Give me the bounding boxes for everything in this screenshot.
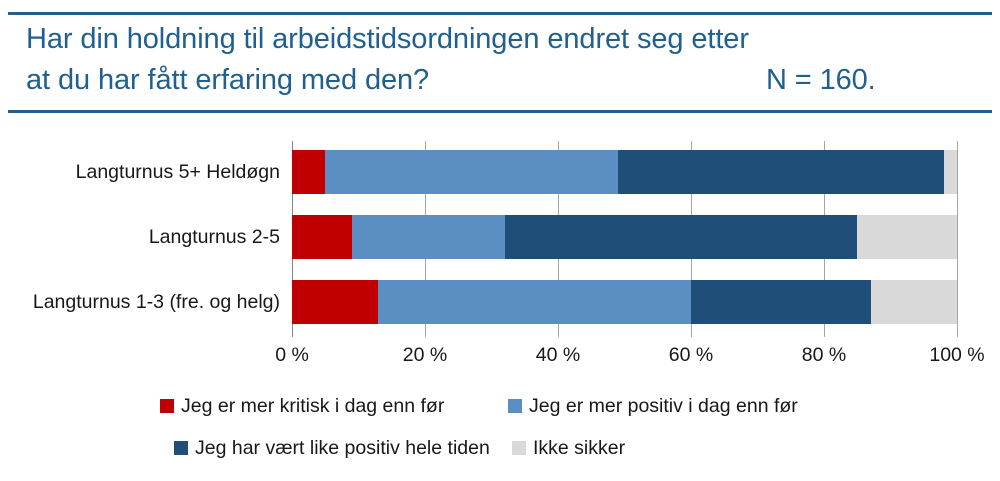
x-tick-label-100: 100 % <box>912 344 1000 367</box>
title-line-2-text: at du har fått erfaring med den? <box>26 64 429 96</box>
bar-segment <box>352 215 505 259</box>
bar-segment <box>292 280 378 324</box>
chart-figure: Har din holdning til arbeidstidsordninge… <box>0 0 1000 481</box>
x-tick-label-60: 60 % <box>646 344 736 367</box>
x-tick-label-80: 80 % <box>779 344 869 367</box>
title-top-rule <box>8 12 992 15</box>
legend-swatch-icon <box>508 399 522 413</box>
legend-label: Jeg er mer positiv i dag enn før <box>529 396 798 416</box>
chart-legend: Jeg er mer kritisk i dag enn førJeg er m… <box>160 396 860 472</box>
bar-segment <box>944 150 957 194</box>
legend-label: Jeg har vært like positiv hele tiden <box>195 438 490 458</box>
legend-item[interactable]: Ikke sikker <box>512 438 625 458</box>
legend-label: Ikke sikker <box>533 438 625 458</box>
legend-label: Jeg er mer kritisk i dag enn før <box>181 396 444 416</box>
page-title: Har din holdning til arbeidstidsordninge… <box>26 19 976 107</box>
sample-size-label: N = 160. <box>766 60 876 101</box>
bar-segment <box>871 280 957 324</box>
legend-item[interactable]: Jeg er mer positiv i dag enn før <box>508 396 798 416</box>
bar-segment <box>505 215 857 259</box>
bar-row <box>292 150 957 194</box>
legend-item[interactable]: Jeg har vært like positiv hele tiden <box>174 438 490 458</box>
title-line-1: Har din holdning til arbeidstidsordninge… <box>26 19 976 60</box>
bar-segment <box>292 150 325 194</box>
bar-segment <box>325 150 618 194</box>
bar-row <box>292 215 957 259</box>
legend-item[interactable]: Jeg er mer kritisk i dag enn før <box>160 396 444 416</box>
title-line-2: at du har fått erfaring med den? N = 160… <box>26 60 976 101</box>
bar-segment <box>691 280 871 324</box>
bar-segment <box>292 215 352 259</box>
title-bottom-rule <box>8 110 992 113</box>
bar-segment <box>618 150 944 194</box>
x-tick-label-20: 20 % <box>380 344 470 367</box>
category-label-1: Langturnus 2-5 <box>0 226 280 249</box>
legend-swatch-icon <box>512 441 526 455</box>
category-label-2: Langturnus 1-3 (fre. og helg) <box>0 291 280 314</box>
gridline-100 <box>957 141 958 337</box>
legend-swatch-icon <box>174 441 188 455</box>
bar-segment <box>378 280 691 324</box>
legend-swatch-icon <box>160 399 174 413</box>
x-tick-label-0: 0 % <box>247 344 337 367</box>
x-tick-label-40: 40 % <box>513 344 603 367</box>
plot-area <box>292 141 957 337</box>
bar-segment <box>857 215 957 259</box>
bar-row <box>292 280 957 324</box>
category-label-0: Langturnus 5+ Heldøgn <box>0 161 280 184</box>
